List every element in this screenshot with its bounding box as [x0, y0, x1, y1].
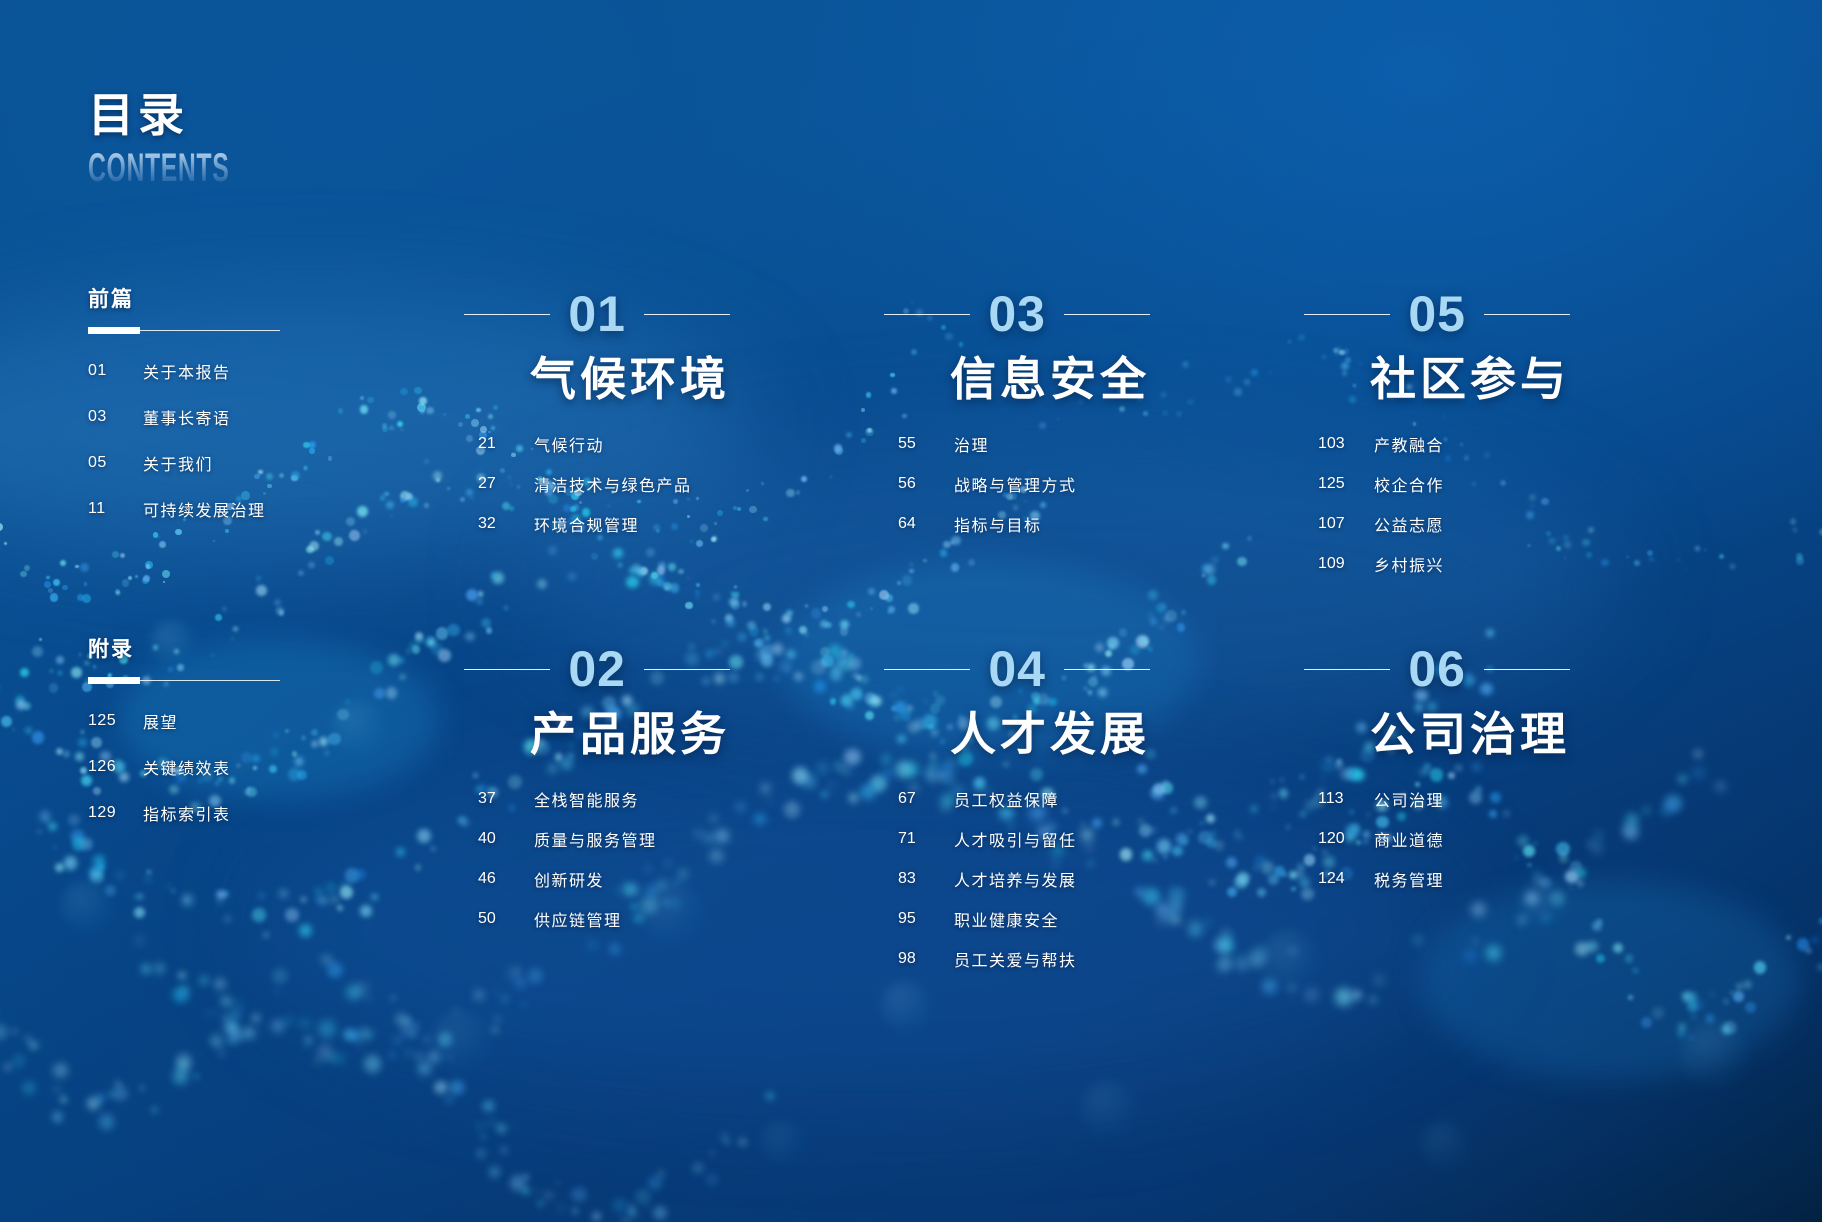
section-number: 05: [1408, 289, 1466, 339]
entry-label: 治理: [954, 432, 1150, 456]
section-title: 社区参与: [1170, 355, 1570, 405]
entry-label: 清洁技术与绿色产品: [534, 472, 730, 496]
section-01: 01 气候环境 21 气候行动 27 清洁技术与绿色产品 32 环境合规管理: [330, 285, 730, 551]
entry-page-number: 129: [88, 804, 143, 822]
entry-page-number: 95: [898, 910, 954, 928]
entry-page-number: 125: [88, 712, 143, 730]
divider-thick-segment: [88, 677, 140, 684]
section-title: 公司治理: [1170, 710, 1570, 760]
list-item[interactable]: 103 产教融合: [1170, 431, 1570, 457]
entry-page-number: 40: [478, 830, 534, 848]
entry-label: 环境合规管理: [534, 512, 730, 536]
list-item[interactable]: 27 清洁技术与绿色产品: [330, 471, 730, 497]
entry-list: 67 员工权益保障 71 人才吸引与留任 83 人才培养与发展 95 职业健康安…: [750, 786, 1150, 972]
toc-page: 目录 CONTENTS 前篇 01 关于本报告 03 董事长寄语 05: [0, 0, 1822, 1222]
section-number: 02: [568, 644, 626, 694]
page-title-english: CONTENTS: [88, 148, 229, 188]
number-line-right: [644, 314, 730, 315]
entry-label: 员工权益保障: [954, 787, 1150, 811]
list-item[interactable]: 71 人才吸引与留任: [750, 826, 1150, 852]
number-line-right: [1064, 669, 1150, 670]
number-line-left: [1304, 669, 1390, 670]
entry-label: 创新研发: [534, 867, 730, 891]
entry-page-number: 55: [898, 435, 954, 453]
list-item[interactable]: 67 员工权益保障: [750, 786, 1150, 812]
entry-list: 37 全栈智能服务 40 质量与服务管理 46 创新研发 50 供应链管理: [330, 786, 730, 932]
entry-page-number: 71: [898, 830, 954, 848]
number-line-right: [644, 669, 730, 670]
entry-label: 可持续发展治理: [143, 497, 266, 521]
entry-label: 人才吸引与留任: [954, 827, 1150, 851]
entry-page-number: 11: [88, 500, 143, 518]
entry-page-number: 67: [898, 790, 954, 808]
section-divider: [88, 327, 280, 334]
entry-label: 关于本报告: [143, 359, 231, 383]
number-line-left: [464, 669, 550, 670]
entry-page-number: 125: [1318, 475, 1374, 493]
section-number-header: 06: [1170, 640, 1570, 698]
entry-label: 全栈智能服务: [534, 787, 730, 811]
section-number-header: 01: [330, 285, 730, 343]
entry-label: 产教融合: [1374, 432, 1570, 456]
entry-label: 展望: [143, 709, 178, 733]
entry-page-number: 32: [478, 515, 534, 533]
entry-list: 21 气候行动 27 清洁技术与绿色产品 32 环境合规管理: [330, 431, 730, 537]
list-item[interactable]: 21 气候行动: [330, 431, 730, 457]
list-item[interactable]: 125 校企合作: [1170, 471, 1570, 497]
entry-list: 113 公司治理 120 商业道德 124 税务管理: [1170, 786, 1570, 892]
entry-page-number: 05: [88, 454, 143, 472]
entry-page-number: 120: [1318, 830, 1374, 848]
entry-page-number: 64: [898, 515, 954, 533]
entry-label: 质量与服务管理: [534, 827, 730, 851]
entry-page-number: 113: [1318, 790, 1374, 808]
entry-label: 公司治理: [1374, 787, 1570, 811]
entry-page-number: 126: [88, 758, 143, 776]
entry-page-number: 50: [478, 910, 534, 928]
divider-thick-segment: [88, 327, 140, 334]
number-line-right: [1484, 314, 1570, 315]
list-item[interactable]: 55 治理: [750, 431, 1150, 457]
entry-page-number: 107: [1318, 515, 1374, 533]
entry-label: 公益志愿: [1374, 512, 1570, 536]
number-line-left: [464, 314, 550, 315]
section-divider: [88, 677, 280, 684]
entry-label: 商业道德: [1374, 827, 1570, 851]
entry-page-number: 83: [898, 870, 954, 888]
list-item[interactable]: 98 员工关爱与帮扶: [750, 946, 1150, 972]
list-item[interactable]: 32 环境合规管理: [330, 511, 730, 537]
entry-page-number: 21: [478, 435, 534, 453]
entry-page-number: 109: [1318, 555, 1374, 573]
entry-page-number: 46: [478, 870, 534, 888]
section-number: 01: [568, 289, 626, 339]
list-item[interactable]: 109 乡村振兴: [1170, 551, 1570, 577]
entry-page-number: 103: [1318, 435, 1374, 453]
section-number: 06: [1408, 644, 1466, 694]
number-line-right: [1484, 669, 1570, 670]
list-item[interactable]: 95 职业健康安全: [750, 906, 1150, 932]
section-number: 03: [988, 289, 1046, 339]
entry-label: 乡村振兴: [1374, 552, 1570, 576]
entry-label: 职业健康安全: [954, 907, 1150, 931]
section-number-header: 02: [330, 640, 730, 698]
entry-label: 供应链管理: [534, 907, 730, 931]
list-item[interactable]: 56 战略与管理方式: [750, 471, 1150, 497]
entry-page-number: 124: [1318, 870, 1374, 888]
list-item[interactable]: 64 指标与目标: [750, 511, 1150, 537]
number-line-right: [1064, 314, 1150, 315]
entry-list: 55 治理 56 战略与管理方式 64 指标与目标: [750, 431, 1150, 537]
entry-label: 员工关爱与帮扶: [954, 947, 1150, 971]
page-title: 目录: [88, 92, 316, 138]
section-number: 04: [988, 644, 1046, 694]
entry-page-number: 56: [898, 475, 954, 493]
list-item[interactable]: 113 公司治理: [1170, 786, 1570, 812]
entry-page-number: 98: [898, 950, 954, 968]
section-title: 产品服务: [330, 710, 730, 760]
entry-label: 气候行动: [534, 432, 730, 456]
list-item[interactable]: 50 供应链管理: [330, 906, 730, 932]
section-number-header: 03: [750, 285, 1150, 343]
entry-label: 战略与管理方式: [954, 472, 1150, 496]
toc-content: 目录 CONTENTS 前篇 01 关于本报告 03 董事长寄语 05: [0, 0, 1822, 1222]
entry-page-number: 27: [478, 475, 534, 493]
entry-label: 董事长寄语: [143, 405, 231, 429]
entry-label: 指标与目标: [954, 512, 1150, 536]
entry-page-number: 01: [88, 362, 143, 380]
section-number-header: 04: [750, 640, 1150, 698]
number-line-left: [884, 669, 970, 670]
entry-label: 关于我们: [143, 451, 213, 475]
number-line-left: [884, 314, 970, 315]
list-item[interactable]: 40 质量与服务管理: [330, 826, 730, 852]
list-item[interactable]: 46 创新研发: [330, 866, 730, 892]
entry-list: 103 产教融合 125 校企合作 107 公益志愿 109 乡村振兴: [1170, 431, 1570, 577]
entry-label: 校企合作: [1374, 472, 1570, 496]
section-number-header: 05: [1170, 285, 1570, 343]
list-item[interactable]: 120 商业道德: [1170, 826, 1570, 852]
entry-page-number: 03: [88, 408, 143, 426]
section-06: 06 公司治理 113 公司治理 120 商业道德 124 税务管理: [1170, 640, 1570, 906]
section-05: 05 社区参与 103 产教融合 125 校企合作 107 公益志愿 109: [1170, 285, 1570, 591]
list-item[interactable]: 107 公益志愿: [1170, 511, 1570, 537]
list-item[interactable]: 37 全栈智能服务: [330, 786, 730, 812]
list-item[interactable]: 124 税务管理: [1170, 866, 1570, 892]
entry-label: 税务管理: [1374, 867, 1570, 891]
entry-label: 关键绩效表: [143, 755, 231, 779]
section-title: 信息安全: [750, 355, 1150, 405]
list-item[interactable]: 83 人才培养与发展: [750, 866, 1150, 892]
section-title: 人才发展: [750, 710, 1150, 760]
entry-label: 指标索引表: [143, 801, 231, 825]
number-line-left: [1304, 314, 1390, 315]
section-title: 气候环境: [330, 355, 730, 405]
section-03: 03 信息安全 55 治理 56 战略与管理方式 64 指标与目标: [750, 285, 1150, 551]
section-04: 04 人才发展 67 员工权益保障 71 人才吸引与留任 83 人才培养与发展: [750, 640, 1150, 986]
section-02: 02 产品服务 37 全栈智能服务 40 质量与服务管理 46 创新研发 5: [330, 640, 730, 946]
entry-page-number: 37: [478, 790, 534, 808]
entry-label: 人才培养与发展: [954, 867, 1150, 891]
page-title-block: 目录 CONTENTS: [88, 92, 316, 188]
